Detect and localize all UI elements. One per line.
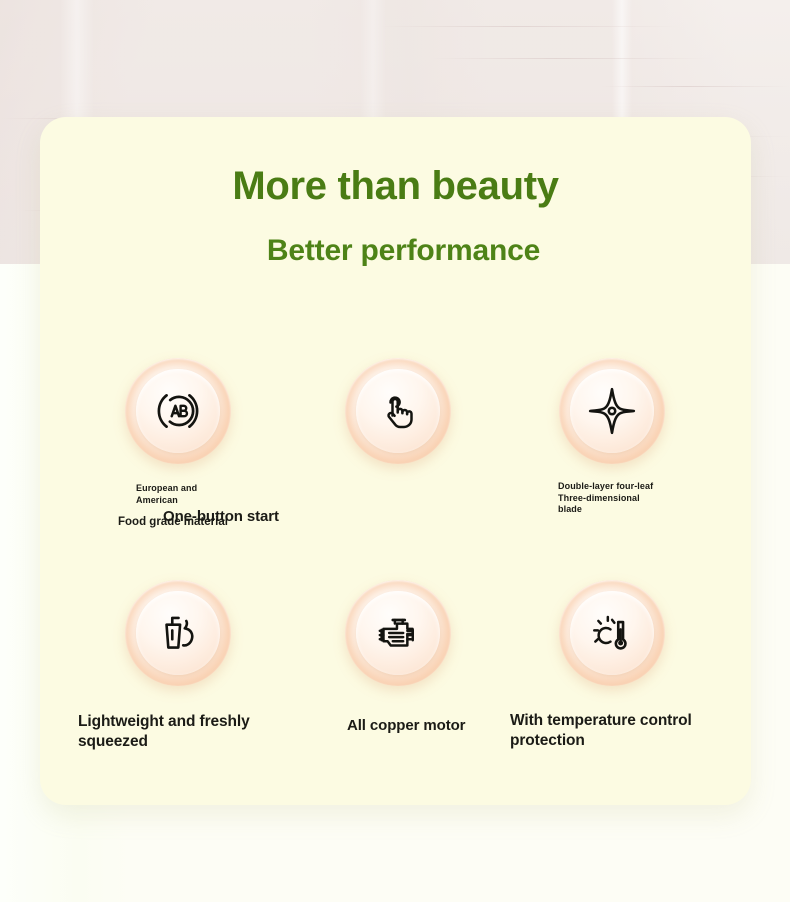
motor-engine-icon <box>345 580 451 686</box>
page-subtitle: Better performance <box>40 234 751 268</box>
product-feature-page: More than beauty Better performance Euro… <box>0 0 790 902</box>
abs-material-icon <box>125 358 231 464</box>
page-title: More than beauty <box>40 164 751 209</box>
juice-glass-icon <box>125 580 231 686</box>
tap-hand-icon <box>345 358 451 464</box>
four-leaf-blade-icon <box>559 358 665 464</box>
feature-label-primary: With temperature controlprotection <box>510 711 740 751</box>
feature-label-primary: Double-layer four-leafThree-dimensional … <box>558 481 662 516</box>
feature-label-primary: Lightweight and freshlysqueezed <box>78 712 328 752</box>
feature-label-primary: One-button start <box>81 507 361 526</box>
feature-label-secondary: European andAmerican <box>136 483 286 506</box>
thermometer-sun-icon <box>559 580 665 686</box>
feature-card: More than beauty Better performance Euro… <box>40 117 751 805</box>
